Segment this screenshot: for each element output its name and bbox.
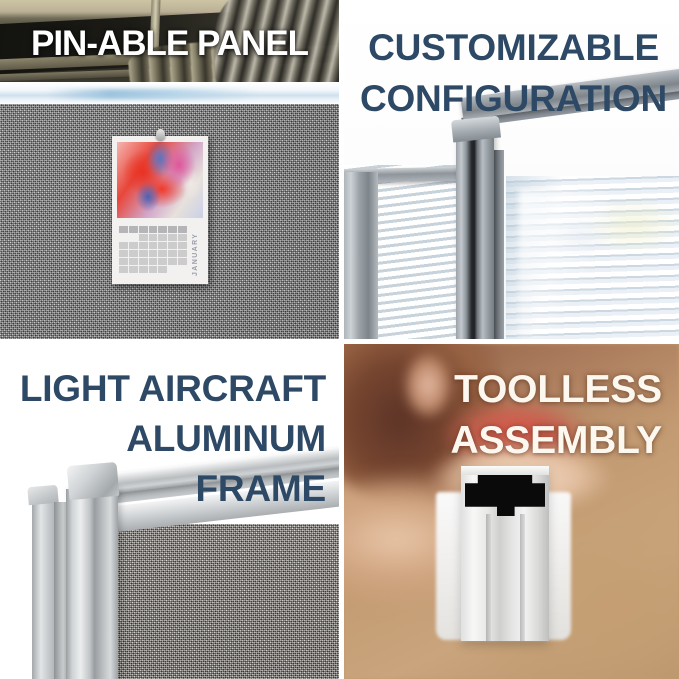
extrusion-rib-right [520, 514, 525, 641]
glass-reflection [519, 190, 609, 339]
extrusion-top-lip [461, 466, 549, 475]
calendar-day-cell [178, 266, 187, 273]
extrusion-rib-left [486, 514, 491, 641]
calendar-day-cell [158, 266, 167, 273]
calendar-day-cell [119, 266, 128, 273]
calendar-day-cell [139, 266, 148, 273]
calendar-day-cell [129, 258, 138, 265]
calendar-day-cell [149, 242, 158, 249]
calendar-day-cell [158, 258, 167, 265]
calendar-day-cell [149, 266, 158, 273]
calendar-day-cell [139, 258, 148, 265]
calendar-day-cell [178, 250, 187, 257]
center-aluminum-post [456, 132, 494, 339]
push-pin-icon [156, 129, 165, 140]
ceiling-light-strip [0, 82, 339, 105]
calendar-day-cell [119, 258, 128, 265]
calendar-month-label: JANUARY [192, 224, 201, 276]
caption-pin-able-panel: PIN-ABLE PANEL [0, 21, 339, 67]
panel-toolless-assembly: TOOLLESS ASSEMBLY [344, 344, 679, 679]
calendar-day-cell [178, 242, 187, 249]
calendar-date-grid [119, 226, 187, 270]
calendar-weekday-cell [149, 226, 158, 233]
calendar-weekday-cell [139, 226, 148, 233]
calendar-weekday-cell [129, 226, 138, 233]
calendar-day-cell [129, 234, 138, 241]
calendar-day-cell [149, 234, 158, 241]
calendar-weekday-cell [119, 226, 128, 233]
calendar-day-cell [178, 234, 187, 241]
feature-grid: JANUARY PIN-ABLE PANEL CUSTOMIZABLE CONF… [0, 0, 679, 679]
calendar-day-cell [158, 234, 167, 241]
calendar-day-cell [168, 250, 177, 257]
calendar-day-cell [139, 242, 148, 249]
speckled-fabric-panel [118, 524, 339, 679]
calendar-day-cell [139, 234, 148, 241]
pinned-calendar: JANUARY [112, 136, 208, 284]
caption-customizable-configuration: CUSTOMIZABLE CONFIGURATION [348, 22, 679, 124]
calendar-day-cell [168, 234, 177, 241]
calendar-day-cell [119, 250, 128, 257]
calendar-weekday-cell [178, 226, 187, 233]
caption-light-aircraft-aluminum-frame: LIGHT AIRCRAFT ALUMINUM FRAME [4, 364, 326, 514]
calendar-weekday-cell [168, 226, 177, 233]
left-aluminum-post [344, 172, 378, 339]
rear-aluminum-post [32, 496, 54, 679]
calendar-day-cell [168, 242, 177, 249]
window-mullion [494, 150, 504, 339]
caption-toolless-assembly: TOOLLESS ASSEMBLY [344, 364, 662, 466]
calendar-day-cell [168, 258, 177, 265]
calendar-day-cell [149, 258, 158, 265]
calendar-day-cell [119, 234, 128, 241]
calendar-artwork [117, 142, 203, 218]
calendar-day-cell [119, 242, 128, 249]
calendar-day-cell [158, 242, 167, 249]
calendar-day-cell [129, 266, 138, 273]
calendar-day-cell [129, 242, 138, 249]
calendar-day-cell [149, 250, 158, 257]
panel-customizable-configuration: CUSTOMIZABLE CONFIGURATION [344, 0, 679, 339]
calendar-day-cell [129, 250, 138, 257]
calendar-day-cell [139, 250, 148, 257]
calendar-weekday-cell [158, 226, 167, 233]
calendar-day-cell [178, 258, 187, 265]
calendar-day-cell [168, 266, 177, 273]
front-aluminum-post [66, 489, 118, 679]
calendar-day-cell [158, 250, 167, 257]
panel-pin-able-panel: JANUARY PIN-ABLE PANEL [0, 0, 339, 339]
panel-light-aircraft-aluminum-frame: LIGHT AIRCRAFT ALUMINUM FRAME [0, 344, 339, 679]
